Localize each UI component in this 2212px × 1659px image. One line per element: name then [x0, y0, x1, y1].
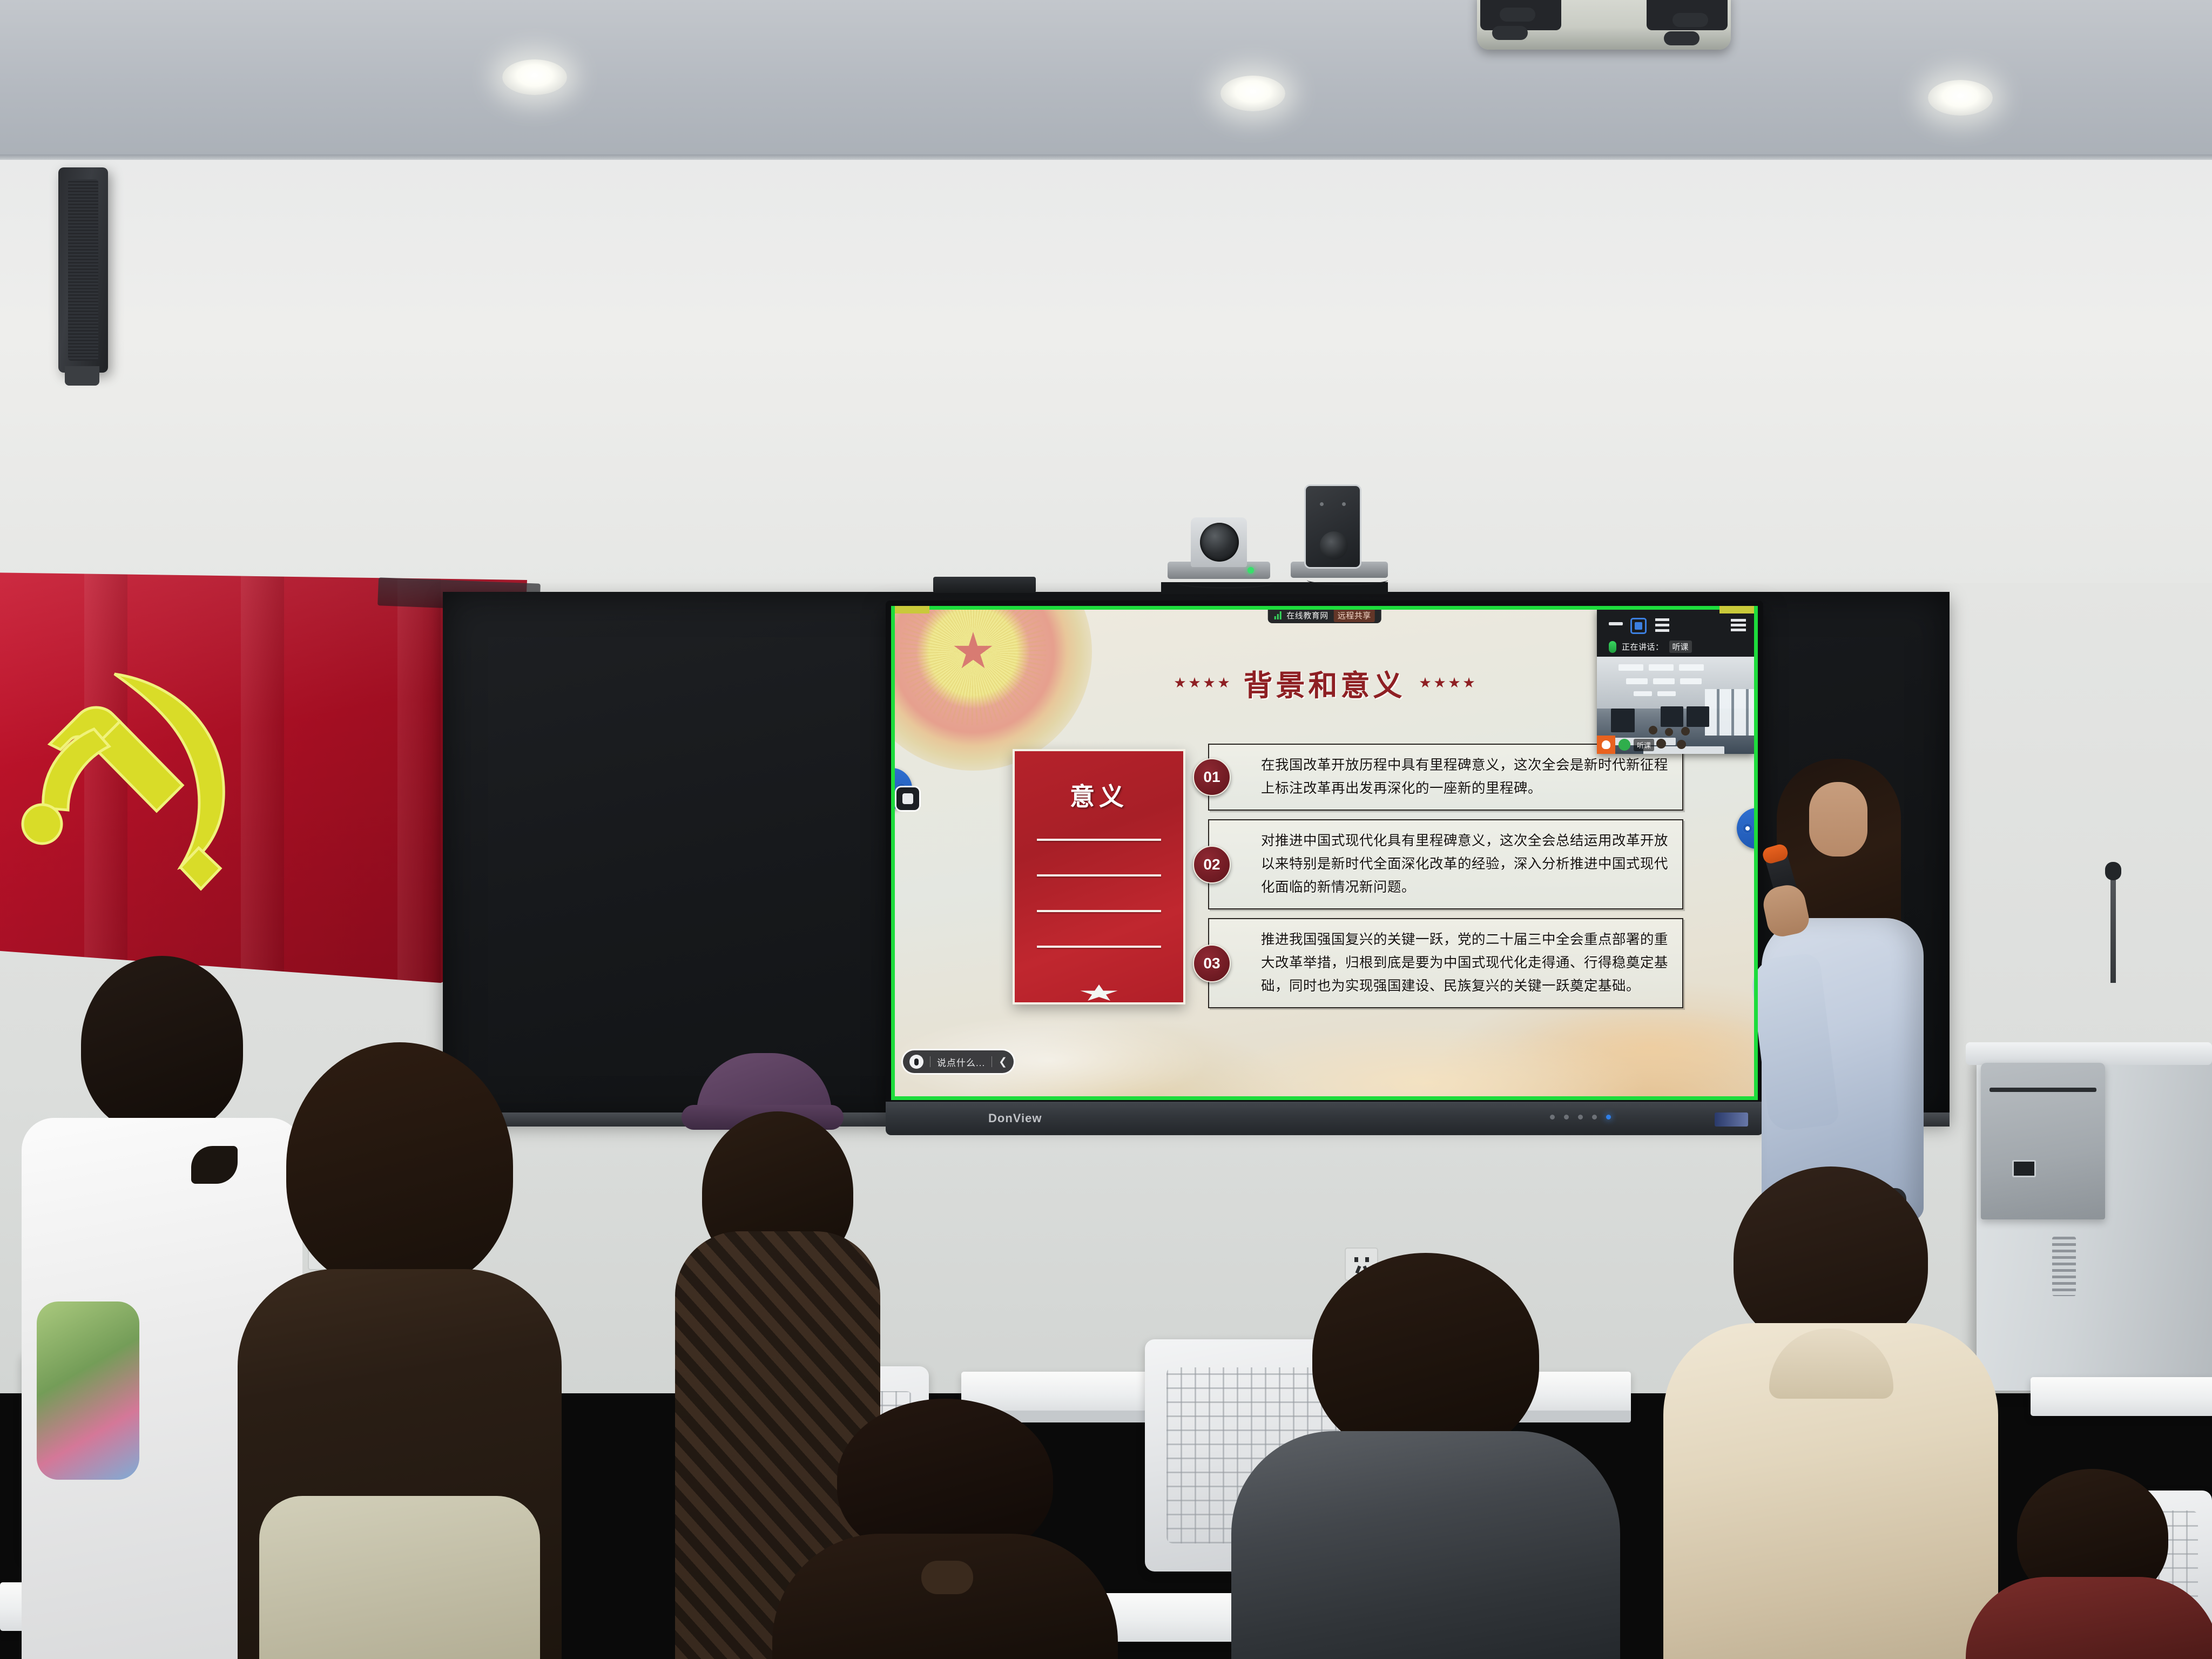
star-icon — [1218, 677, 1230, 689]
avatar-glyph — [1602, 740, 1610, 749]
speaker-name: 听课 — [1669, 640, 1692, 653]
content-block-list: 01 在我国改革开放历程中具有里程碑意义，这次全会是新时代新征程上标注改革再出发… — [1208, 744, 1683, 1008]
voice-input-placeholder[interactable]: 说点什么... — [937, 1055, 985, 1069]
star-icon — [1204, 677, 1215, 689]
star-group-left — [1175, 677, 1230, 689]
divider — [992, 1056, 992, 1067]
meaning-card-title: 意义 — [1070, 777, 1128, 813]
student-right-hoodie — [1663, 1166, 1998, 1659]
ceiling-light — [1649, 664, 1674, 671]
projector-mount — [1477, 0, 1731, 50]
flag-fold-3 — [397, 572, 441, 983]
network-label: 在线教育网 — [1286, 610, 1328, 621]
circle-dot-icon — [1743, 824, 1752, 833]
remote-student — [1677, 740, 1686, 749]
signal-bar — [1277, 614, 1278, 619]
participant-list-icon[interactable] — [1655, 618, 1669, 633]
student-center-right — [1231, 1253, 1620, 1659]
meaning-card: 意义 — [1013, 749, 1185, 1004]
minimize-icon[interactable] — [1609, 622, 1623, 625]
content-block: 02 对推进中国式现代化具有里程碑意义，这次全会总结运用改革开放以来特别是新时代… — [1208, 819, 1683, 909]
classroom-desk — [2031, 1377, 2212, 1416]
downlight-2 — [1220, 76, 1285, 111]
hdmi-connector-box — [933, 577, 1036, 593]
microphone-icon[interactable] — [1618, 739, 1630, 751]
downlight-1 — [502, 59, 567, 95]
remote-monitor — [1661, 706, 1683, 727]
student-head — [1734, 1166, 1928, 1350]
signal-strength-icon — [1274, 611, 1281, 619]
remote-monitor — [1687, 706, 1709, 727]
signal-bar — [1274, 616, 1276, 619]
five-point-star-icon — [1080, 984, 1118, 1002]
rule-line — [1037, 946, 1162, 948]
content-block: 03 推进我国强国复兴的关键一跃，党的二十届三中全会重点部署的重大改革举措，归根… — [1208, 918, 1683, 1008]
mount-knob-3 — [1673, 13, 1708, 27]
capture-corner-tag — [895, 606, 929, 613]
square-icon — [902, 793, 913, 804]
classroom-scene: 背景和意义 意义 0 — [0, 0, 2212, 1659]
podium-control-unit[interactable] — [1981, 1063, 2105, 1219]
ceiling-light — [1618, 664, 1643, 671]
presenter-face — [1809, 782, 1867, 857]
user-avatar-icon — [1597, 736, 1615, 754]
ceiling-light — [1680, 678, 1702, 684]
upper-wall — [0, 160, 2212, 586]
card-reader-icon — [2012, 1160, 2036, 1177]
downlight-3 — [1928, 80, 1993, 116]
stand-microphone — [2110, 875, 2116, 983]
student-long-hair-left — [238, 1042, 562, 1659]
layout-inner — [1635, 622, 1642, 630]
student-head — [286, 1042, 513, 1291]
bezel-dot — [1550, 1115, 1555, 1120]
screen-status-bar: 在线教育网 远程共享 — [1267, 607, 1381, 623]
bezel-logo — [1715, 1112, 1748, 1127]
star-icon — [1449, 677, 1460, 689]
student-head — [81, 956, 243, 1134]
capture-corner-tag — [1719, 606, 1754, 613]
star-icon — [1420, 677, 1431, 689]
mic-dot-2 — [1342, 502, 1346, 506]
remote-student — [1665, 728, 1673, 736]
signal-bar — [1279, 611, 1281, 619]
mount-knob-1 — [1500, 8, 1535, 22]
podium-surface — [1966, 1042, 2212, 1065]
video-conference-panel[interactable]: 正在讲话： 听课 — [1597, 609, 1755, 754]
mount-knob-4 — [1664, 31, 1700, 45]
ceiling-light — [1657, 691, 1676, 696]
mic-capsule — [914, 1058, 919, 1065]
layout-grid-icon[interactable] — [1630, 618, 1647, 634]
ceiling-light — [1653, 678, 1675, 684]
block-text: 对推进中国式现代化具有里程碑意义，这次全会总结运用改革开放以来特别是新时代全面深… — [1261, 829, 1670, 899]
hair-tie-icon — [921, 1561, 973, 1594]
divider — [930, 1056, 930, 1067]
student-far-right — [1966, 1469, 2212, 1659]
student-jacket — [1231, 1431, 1620, 1659]
hammer-and-sickle-emblem — [9, 653, 279, 891]
card-slot — [1990, 1088, 2096, 1092]
rule-line — [1037, 910, 1162, 912]
block-number-badge: 03 — [1193, 945, 1231, 982]
block-number-badge: 01 — [1193, 758, 1231, 796]
display-screen[interactable]: 背景和意义 意义 0 — [891, 606, 1758, 1100]
bezel-dot — [1564, 1115, 1569, 1120]
camera-lens-icon — [1200, 523, 1239, 562]
session-badge: 远程共享 — [1334, 609, 1375, 622]
rule-line — [1037, 874, 1162, 876]
block-number-badge: 02 — [1193, 846, 1231, 884]
wall-speaker — [58, 167, 108, 373]
footer-participant-name: 听课 — [1634, 739, 1654, 751]
array-microphone — [1306, 486, 1360, 567]
block-text: 推进我国强国复兴的关键一跃，党的二十届三中全会重点部署的重大改革举措，归根到底是… — [1261, 928, 1670, 998]
av-cable — [1177, 577, 1274, 589]
remote-windows — [1705, 689, 1755, 736]
pip-footer: 听课 — [1597, 736, 1654, 754]
camera-status-led — [1247, 567, 1254, 574]
bezel-dot — [1592, 1115, 1597, 1120]
speaker-bracket — [65, 366, 99, 386]
mount-knob-2 — [1492, 26, 1528, 40]
ceiling-light — [1634, 691, 1652, 696]
voice-assistant-bar[interactable]: 说点什么... ❮ — [903, 1050, 1014, 1073]
speaking-label: 正在讲话： — [1622, 641, 1664, 652]
pip-toolbar: 正在讲话： 听课 — [1597, 609, 1755, 657]
student-head — [1312, 1253, 1539, 1458]
slide-title: 背景和意义 — [1244, 662, 1406, 704]
remote-student — [1649, 726, 1657, 734]
star-icon — [1464, 677, 1475, 689]
student-ponytail-center — [772, 1399, 1118, 1659]
microphone-icon[interactable] — [909, 1055, 923, 1069]
bezel-dot — [1578, 1115, 1583, 1120]
ceiling — [0, 0, 2212, 162]
microphone-icon — [1609, 641, 1616, 653]
ceiling-light — [1626, 678, 1648, 684]
mic-dot-1 — [1320, 502, 1324, 506]
star-icon — [1175, 677, 1186, 689]
podium-vent — [2052, 1237, 2076, 1296]
remote-monitor — [1611, 709, 1635, 732]
display-brand-label: DonView — [988, 1111, 1042, 1125]
bezel-control-indicators[interactable] — [1550, 1115, 1611, 1120]
ceiling-light — [1679, 664, 1704, 671]
hamburger-menu-icon[interactable] — [1731, 619, 1746, 632]
chevron-left-icon[interactable]: ❮ — [999, 1056, 1007, 1068]
meaning-card-rules — [1037, 839, 1162, 981]
star-icon — [1434, 677, 1446, 689]
remote-student — [1681, 727, 1690, 736]
power-led — [1606, 1115, 1611, 1120]
star-group-right — [1420, 677, 1475, 689]
student-clothing — [259, 1496, 540, 1659]
remote-student — [1656, 739, 1666, 748]
rule-line — [1037, 839, 1162, 841]
student-torso — [1966, 1577, 2212, 1659]
screenshot-tool-button[interactable] — [896, 787, 919, 810]
shirt-graphic — [37, 1301, 139, 1480]
star-icon — [1189, 677, 1201, 689]
speaking-indicator: 正在讲话： 听课 — [1609, 640, 1692, 653]
av-cable — [1307, 575, 1388, 585]
block-text: 在我国改革开放历程中具有里程碑意义，这次全会是新时代新征程上标注改革再出发再深化… — [1261, 754, 1670, 800]
student-hair — [772, 1534, 1118, 1659]
mic-grille — [1320, 531, 1348, 559]
